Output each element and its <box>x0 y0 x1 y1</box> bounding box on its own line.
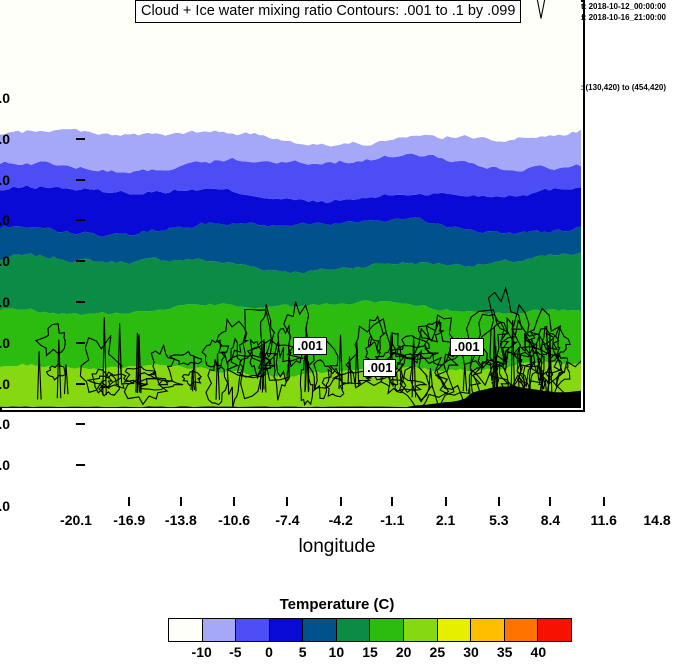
x-tick-label: -10.6 <box>218 512 250 528</box>
y-tick-label: 2.0 <box>0 416 10 432</box>
x-tick-label: -20.1 <box>60 512 92 528</box>
colorbar-swatch-0 <box>169 619 203 641</box>
x-tick-mark <box>286 497 288 506</box>
x-tick-label: 2.1 <box>436 512 455 528</box>
colorbar-swatch-5 <box>337 619 371 641</box>
y-tick-label: 1.0 <box>0 457 10 473</box>
x-tick-label: 14.8 <box>643 512 670 528</box>
x-tick-label: 11.6 <box>590 512 616 528</box>
y-tick-mark <box>76 423 85 425</box>
colorbar-title: Temperature (C) <box>0 596 674 613</box>
y-tick-mark <box>76 383 85 385</box>
x-tick-label: -16.9 <box>113 512 145 528</box>
y-tick-label: 4.0 <box>0 335 10 351</box>
x-tick-label: -7.4 <box>275 512 299 528</box>
colorbar-swatch-11 <box>538 619 571 641</box>
colorbar-tick-label: -5 <box>229 644 241 660</box>
y-tick-label: 9.0 <box>0 131 10 147</box>
x-tick-label: 5.3 <box>489 512 508 528</box>
y-tick-label: 8.0 <box>0 172 10 188</box>
x-tick-mark <box>603 497 605 506</box>
y-tick-label: 10.0 <box>0 90 10 106</box>
y-tick-label: 3.0 <box>0 376 10 392</box>
contour-label: .001 <box>293 337 326 355</box>
y-tick-label: 0.0 <box>0 498 10 514</box>
colorbar-tick-label: 40 <box>531 644 547 660</box>
y-tick-mark <box>76 260 85 262</box>
y-tick-mark <box>76 179 85 181</box>
y-tick-label: 5.0 <box>0 294 10 310</box>
y-tick-label: 7.0 <box>0 212 10 228</box>
x-tick-label: -13.8 <box>165 512 197 528</box>
colorbar-tick-label: 5 <box>299 644 307 660</box>
x-tick-label: 8.4 <box>541 512 560 528</box>
y-tick-mark <box>76 301 85 303</box>
y-tick-mark <box>76 219 85 221</box>
colorbar-swatch-1 <box>203 619 237 641</box>
temperature-field <box>0 0 581 408</box>
colorbar-tick-label: -10 <box>192 644 212 660</box>
colorbar-swatch-2 <box>236 619 270 641</box>
colorbar-swatch-9 <box>471 619 505 641</box>
colorbar-swatch-4 <box>303 619 337 641</box>
colorbar-tick-label: 30 <box>463 644 479 660</box>
colorbar-swatch-7 <box>404 619 438 641</box>
contour-label: .001 <box>450 338 483 356</box>
x-tick-mark <box>180 497 182 506</box>
plot-canvas: .001.001.001 <box>0 0 585 412</box>
contour-caption: Cloud + Ice water mixing ratio Contours:… <box>135 0 521 23</box>
colorbar-swatch-6 <box>370 619 404 641</box>
contour-label: .001 <box>363 359 396 377</box>
y-tick-label: 6.0 <box>0 253 10 269</box>
colorbar-tick-label: 10 <box>329 644 345 660</box>
colorbar <box>168 618 572 642</box>
x-tick-label: -4.2 <box>329 512 353 528</box>
y-tick-mark <box>76 138 85 140</box>
colorbar-swatch-10 <box>505 619 539 641</box>
x-tick-mark <box>445 497 447 506</box>
colorbar-swatch-8 <box>438 619 472 641</box>
x-tick-label: -1.1 <box>380 512 404 528</box>
colorbar-tick-label: 25 <box>430 644 446 660</box>
colorbar-tick-label: 20 <box>396 644 412 660</box>
colorbar-labels: -10-50510152025303540 <box>168 644 572 664</box>
colorbar-swatch-3 <box>270 619 304 641</box>
x-tick-mark <box>128 497 130 506</box>
cross-section-plot: .001.001.001 Cloud + Ice water mixing ra… <box>0 0 585 412</box>
x-tick-mark <box>549 497 551 506</box>
x-tick-mark <box>233 497 235 506</box>
colorbar-tick-label: 35 <box>497 644 513 660</box>
y-tick-mark <box>76 464 85 466</box>
y-tick-mark <box>76 342 85 344</box>
x-tick-mark <box>391 497 393 506</box>
x-tick-mark <box>498 497 500 506</box>
colorbar-tick-label: 0 <box>265 644 273 660</box>
x-tick-mark <box>340 497 342 506</box>
colorbar-tick-label: 15 <box>362 644 378 660</box>
